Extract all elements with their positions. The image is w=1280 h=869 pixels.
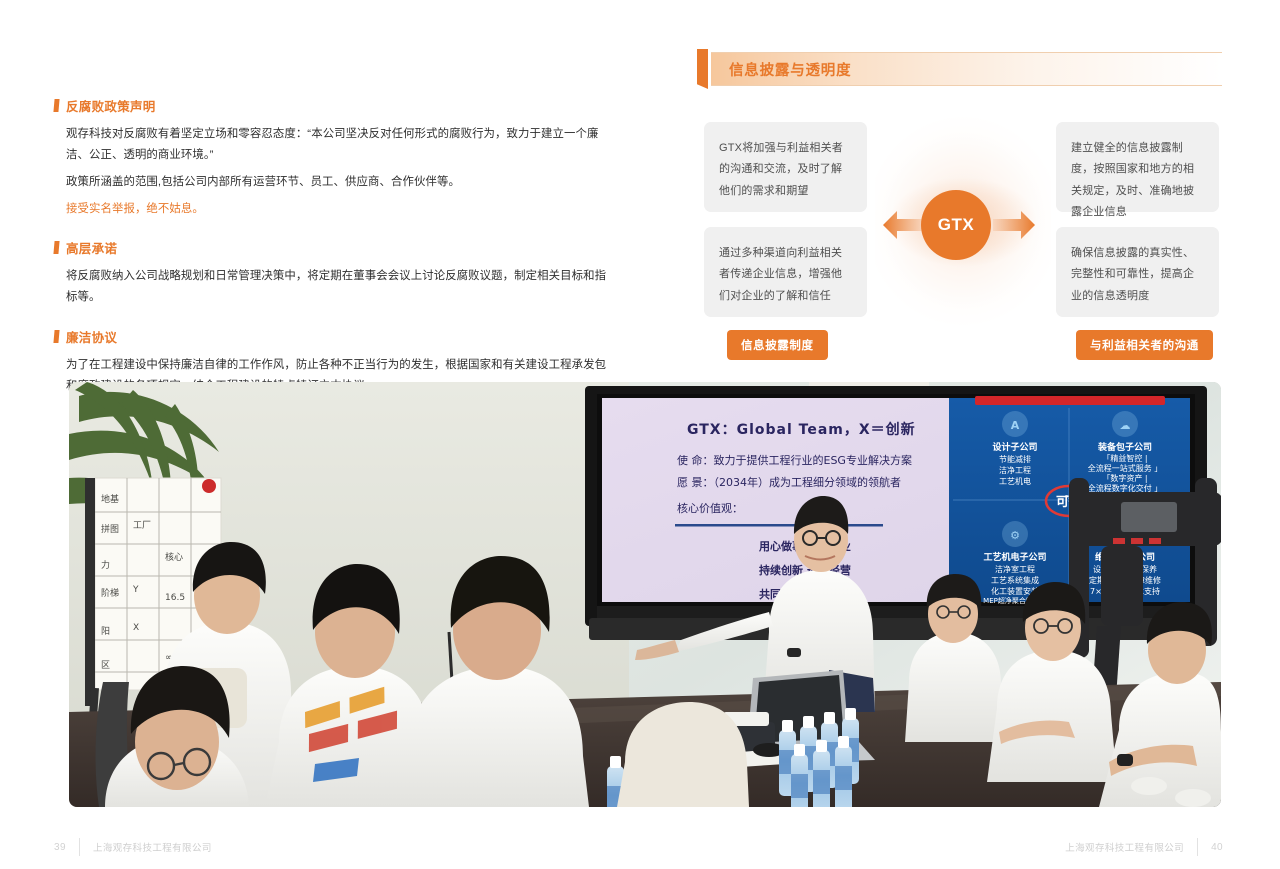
section-heading: 高层承诺 [54,238,614,257]
section-leadership-commitment: 高层承诺 将反腐败纳入公司战略规划和日常管理决策中，将定期在董事会会议上讨论反腐… [54,238,614,308]
svg-text:全流程一站式服务 」: 全流程一站式服务 」 [1088,463,1163,473]
panel-header: 信息披露与透明度 [697,52,1222,86]
diagram-card-left-bottom: 通过多种渠道向利益相关者传递企业信息，增强他们对企业的了解和信任 [704,227,867,317]
panel-header-top-rule [711,52,1222,53]
svg-text:☁: ☁ [1120,419,1131,432]
bullet-marker-icon [53,99,59,112]
svg-text:洁净工程: 洁净工程 [999,465,1031,475]
svg-text:力: 力 [101,559,110,571]
footer-right: 上海观存科技工程有限公司 40 [1065,838,1223,856]
diagram-card-left-top: GTX将加强与利益相关者的沟通和交流，及时了解他们的需求和期望 [704,122,867,212]
gtx-center-label: GTX [938,215,974,235]
section-heading: 廉洁协议 [54,327,614,346]
svg-text:GTX：Global Team，X＝创新: GTX：Global Team，X＝创新 [687,421,916,438]
svg-text:节能减排: 节能减排 [999,454,1031,464]
svg-text:X: X [133,623,139,633]
svg-text:拼图: 拼图 [101,523,119,535]
paragraph-accent: 接受实名举报，绝不姑息。 [66,199,614,220]
svg-text:工厂: 工厂 [133,520,151,531]
footer-page-number-left: 39 [54,842,66,853]
arrow-right-icon [993,210,1035,240]
panel-title: 信息披露与透明度 [729,59,851,80]
section-heading: 反腐败政策声明 [54,96,614,115]
bullet-marker-icon [53,241,59,254]
paragraph: 将反腐败纳入公司战略规划和日常管理决策中，将定期在董事会会议上讨论反腐败议题，制… [66,266,614,308]
meeting-room-photo: 地基拼图 工厂核心 力Y 阶梯16.5 阳X 区∞ GTX：Global Tea… [69,382,1221,807]
svg-text:核心: 核心 [165,551,183,563]
footer-divider [79,838,80,856]
svg-text:Y: Y [132,585,139,595]
bullet-marker-icon [53,330,59,343]
panel-header-accent-bar-icon [697,49,708,89]
footer-company-right: 上海观存科技工程有限公司 [1065,840,1184,854]
svg-text:⚙: ⚙ [1010,529,1020,542]
page-root: 反腐败政策声明 观存科技对反腐败有着坚定立场和零容忍态度：“本公司坚决反对任何形… [0,0,1280,869]
page-footer: 39 上海观存科技工程有限公司 上海观存科技工程有限公司 40 [0,838,1280,860]
footer-left: 39 上海观存科技工程有限公司 [54,838,212,856]
svg-text:阶梯: 阶梯 [101,587,119,599]
svg-text:使 命：致力于提供工程行业的ESG专业解决方案: 使 命：致力于提供工程行业的ESG专业解决方案 [677,453,912,467]
footer-page-number-right: 40 [1211,842,1223,853]
svg-text:愿 景：（2034年）成为工程细分领域的领航者: 愿 景：（2034年）成为工程细分领域的领航者 [677,475,901,489]
svg-text:装备包子公司: 装备包子公司 [1097,441,1152,453]
svg-text:「数字资产 |: 「数字资产 | [1102,473,1147,483]
section-heading-label: 廉洁协议 [66,327,117,346]
svg-text:核心价值观：: 核心价值观： [677,501,743,515]
paragraph: 观存科技对反腐败有着坚定立场和零容忍态度：“本公司坚决反对任何形式的腐败行为，致… [66,124,614,166]
disclosure-diagram: GTX将加强与利益相关者的沟通和交流，及时了解他们的需求和期望 通过多种渠道向利… [697,122,1222,372]
svg-text:工艺系统集成: 工艺系统集成 [991,575,1039,585]
svg-text:地基: 地基 [101,493,119,505]
badge-disclosure-system[interactable]: 信息披露制度 [727,330,828,360]
left-text-column: 反腐败政策声明 观存科技对反腐败有着坚定立场和零容忍态度：“本公司坚决反对任何形… [54,96,614,415]
svg-text:工艺机电子公司: 工艺机电子公司 [983,551,1046,563]
svg-text:区: 区 [101,660,110,671]
svg-text:A: A [1011,419,1020,432]
section-anticorruption-policy: 反腐败政策声明 观存科技对反腐败有着坚定立场和零容忍态度：“本公司坚决反对任何形… [54,96,614,220]
diagram-card-right-top: 建立健全的信息披露制度，按照国家和地方的相关规定，及时、准确地披露企业信息 [1056,122,1219,212]
svg-text:洁净室工程: 洁净室工程 [995,564,1035,574]
svg-text:「精益智控 |: 「精益智控 | [1102,453,1147,463]
svg-text:16.5: 16.5 [165,593,185,603]
footer-company-left: 上海观存科技工程有限公司 [93,840,212,854]
paragraph: 政策所涵盖的范围,包括公司内部所有运营环节、员工、供应商、合作伙伴等。 [66,172,614,193]
badge-stakeholder-communication[interactable]: 与利益相关者的沟通 [1076,330,1213,360]
svg-text:全流程数字化交付 」: 全流程数字化交付 」 [1088,483,1163,493]
section-heading-label: 反腐败政策声明 [66,96,156,115]
diagram-card-right-bottom: 确保信息披露的真实性、完整性和可靠性，提高企业的信息透明度 [1056,227,1219,317]
svg-text:工艺机电: 工艺机电 [999,476,1031,486]
panel-header-bottom-rule [711,85,1222,86]
svg-text:设计子公司: 设计子公司 [992,441,1037,453]
arrow-left-icon [883,210,925,240]
right-panel: 信息披露与透明度 GTX将加强与利益相关者的沟通和交流，及时了解他们的需求和期望… [697,52,1222,372]
svg-text:阳: 阳 [101,626,110,637]
gtx-center-node: GTX [921,190,991,260]
footer-divider [1197,838,1198,856]
section-heading-label: 高层承诺 [66,238,117,257]
